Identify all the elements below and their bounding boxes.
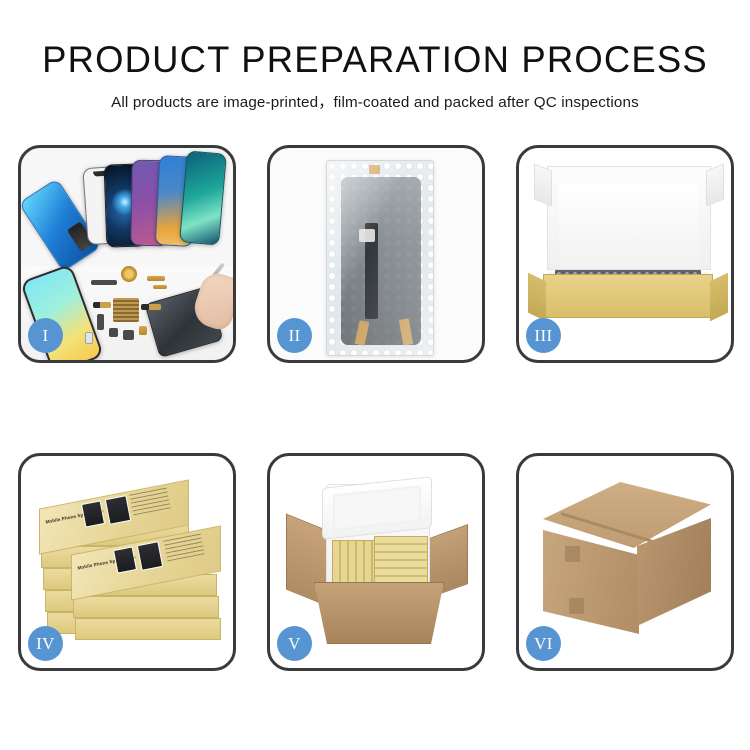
- part-earpiece-mesh: [91, 280, 117, 285]
- wrapped-connector: [359, 229, 375, 242]
- part-ribbon-cable-2: [141, 304, 161, 310]
- step-panel-4[interactable]: Mobile Phone Spare Parts Mobile Phone Sp…: [18, 453, 236, 671]
- bubble-wrap-bag: [326, 160, 434, 356]
- step-badge-5: V: [277, 626, 312, 661]
- phone-teal-display: [179, 150, 227, 245]
- box-screen-image-lower-1: [113, 546, 137, 573]
- carton-body: [314, 582, 444, 644]
- step-panel-2[interactable]: II: [267, 145, 485, 363]
- carton-tape-lower: [569, 598, 584, 614]
- carton-front-face: [543, 530, 639, 634]
- box-screen-image-lower-2: [137, 541, 164, 571]
- page-title: PRODUCT PREPARATION PROCESS: [6, 40, 745, 79]
- part-vibrator: [109, 328, 118, 337]
- process-steps-grid: I II: [18, 145, 735, 671]
- part-camera-module: [97, 314, 104, 330]
- packed-yellow-boxes-row-2: [374, 536, 428, 584]
- box-screen-image-upper-1: [81, 500, 105, 527]
- step-panel-5[interactable]: V: [267, 453, 485, 671]
- foam-sheet: [559, 184, 699, 268]
- part-speaker-box: [123, 330, 134, 340]
- step-badge-1: I: [28, 318, 63, 353]
- step-badge-3: III: [526, 318, 561, 353]
- step-panel-3[interactable]: III: [516, 145, 734, 363]
- part-gold-flex-1: [147, 276, 165, 281]
- step-badge-4: IV: [28, 626, 63, 661]
- stack-box-rear-3: [75, 618, 221, 640]
- part-speaker-coil: [121, 266, 137, 282]
- stack-box-rear-2: [73, 596, 219, 618]
- page-header: PRODUCT PREPARATION PROCESS All products…: [0, 0, 750, 112]
- part-small-lcd: [85, 332, 93, 344]
- product-preparation-page: PRODUCT PREPARATION PROCESS All products…: [0, 0, 750, 750]
- step-panel-6[interactable]: VI: [516, 453, 734, 671]
- tape-tab-top: [369, 165, 380, 174]
- step-panel-1[interactable]: I: [18, 145, 236, 363]
- yellow-box-base: [543, 274, 713, 318]
- part-sim-tray: [139, 326, 147, 335]
- step-badge-2: II: [277, 318, 312, 353]
- part-ribbon-cable-1: [93, 302, 111, 308]
- box-stack: Mobile Phone Spare Parts Mobile Phone Sp…: [31, 480, 227, 660]
- step-badge-6: VI: [526, 626, 561, 661]
- carton-tape-upper: [565, 546, 580, 562]
- box-screen-image-upper-2: [105, 495, 132, 525]
- page-subtitle: All products are image-printed，film-coat…: [0, 90, 750, 112]
- part-logic-board-grid: [113, 298, 139, 322]
- part-gold-flex-2: [153, 285, 167, 289]
